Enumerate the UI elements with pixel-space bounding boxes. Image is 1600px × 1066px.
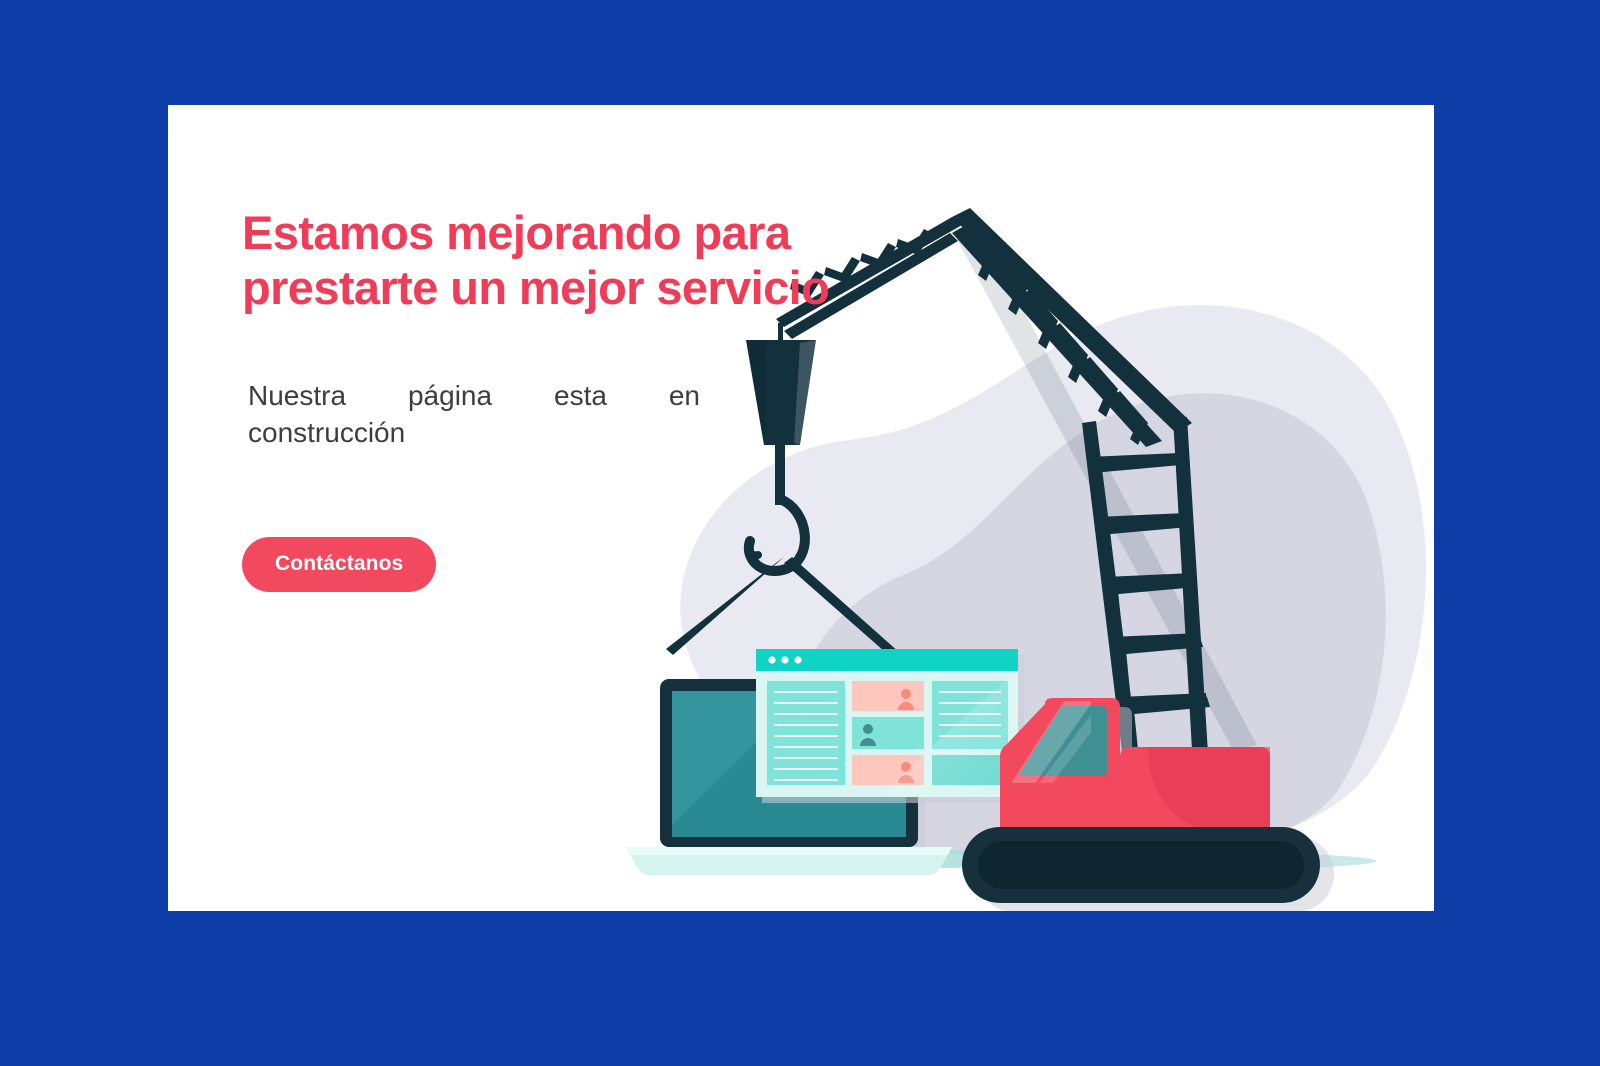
browser-panel-left xyxy=(767,681,845,785)
browser-window xyxy=(756,649,1024,803)
cta-container: Contáctanos xyxy=(242,452,862,592)
page-subtitle: Nuestra página esta en construcción xyxy=(242,316,700,452)
hero-text-column: Estamos mejorando para prestarte un mejo… xyxy=(242,205,862,592)
content-card: Estamos mejorando para prestarte un mejo… xyxy=(168,105,1434,911)
contact-button[interactable]: Contáctanos xyxy=(242,537,436,592)
browser-dots xyxy=(768,656,801,663)
page-title: Estamos mejorando para prestarte un mejo… xyxy=(242,205,842,316)
page-root: Estamos mejorando para prestarte un mejo… xyxy=(0,0,1600,1066)
crane-track xyxy=(962,827,1334,911)
